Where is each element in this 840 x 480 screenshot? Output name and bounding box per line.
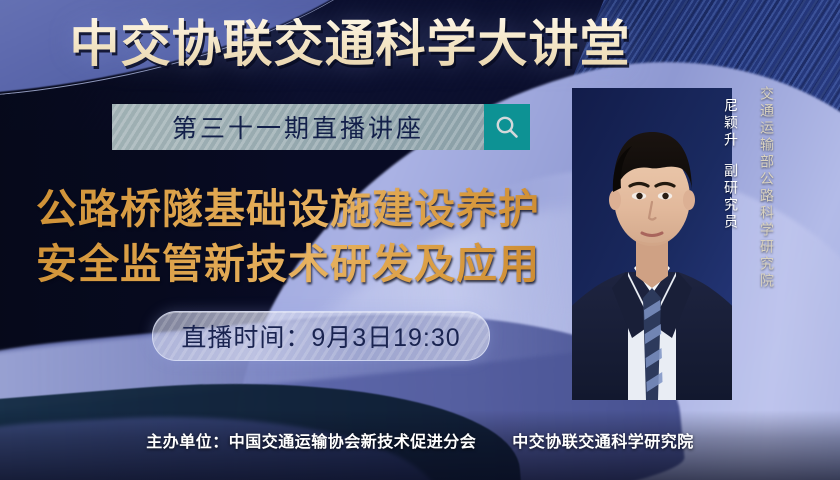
lecture-title-line-1: 公路桥隧基础设施建设养护 — [36, 182, 576, 237]
live-stream-poster: 中交协联交通科学大讲堂 第三十一期直播讲座 公路桥隧基础设施建设养护 安全监管新… — [0, 0, 840, 480]
speaker-name: 尼颖升 — [724, 98, 738, 149]
broadcast-time-label: 直播时间：9月3日19:30 — [181, 318, 460, 354]
lecture-title: 公路桥隧基础设施建设养护 安全监管新技术研发及应用 — [36, 182, 576, 291]
search-icon — [493, 113, 521, 141]
lecture-title-line-2: 安全监管新技术研发及应用 — [36, 237, 576, 292]
episode-banner: 第三十一期直播讲座 — [112, 104, 484, 150]
page-title: 中交协联交通科学大讲堂 — [0, 18, 700, 71]
speaker-role: 副研究员 — [724, 163, 738, 231]
speaker-organization: 交通运输部公路科学研究院 — [760, 86, 774, 290]
search-icon-tile[interactable] — [484, 104, 530, 150]
episode-label: 第三十一期直播讲座 — [172, 109, 424, 145]
speaker-portrait — [572, 88, 732, 400]
footer-organizer: 主办单位：中国交通运输协会新技术促进分会 — [146, 434, 476, 451]
broadcast-time-badge: 直播时间：9月3日19:30 — [152, 311, 490, 361]
footer-co-organizer: 中交协联交通科学研究院 — [512, 434, 694, 451]
footer: 主办单位：中国交通运输协会新技术促进分会 中交协联交通科学研究院 — [0, 428, 840, 452]
